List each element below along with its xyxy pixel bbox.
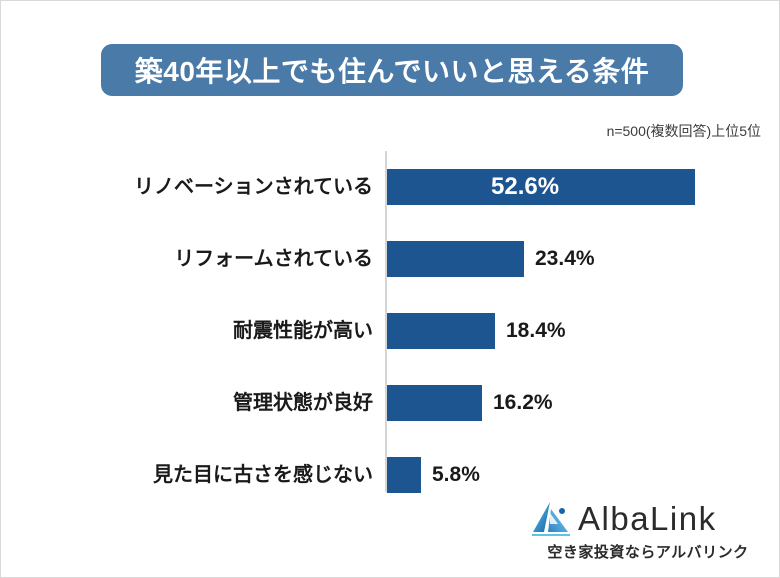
bar-row: 見た目に古さを感じない 5.8% (1, 457, 780, 493)
chart-canvas: 築40年以上でも住んでいいと思える条件 n=500(複数回答)上位5位 リノベー… (0, 0, 780, 578)
bar (387, 457, 421, 493)
chart-subtitle: n=500(複数回答)上位5位 (607, 121, 761, 141)
bar-value-label: 52.6% (491, 169, 559, 205)
category-label: 耐震性能が高い (61, 313, 373, 349)
bar-row: リノベーションされている 52.6% (1, 169, 780, 205)
bar-row: 耐震性能が高い 18.4% (1, 313, 780, 349)
category-label: 管理状態が良好 (61, 385, 373, 421)
bar (387, 313, 495, 349)
bar-value-label: 18.4% (506, 313, 566, 349)
bar (387, 241, 524, 277)
logo-tagline: 空き家投資ならアルバリンク (528, 541, 768, 562)
category-label: 見た目に古さを感じない (61, 457, 373, 493)
bar-row: リフォームされている 23.4% (1, 241, 780, 277)
logo-row: AlbaLink (528, 498, 768, 540)
category-label: リノベーションされている (61, 169, 373, 205)
chart-title-banner: 築40年以上でも住んでいいと思える条件 (101, 44, 683, 96)
plot-area: リノベーションされている 52.6% リフォームされている 23.4% 耐震性能… (1, 149, 780, 494)
bar-value-label: 5.8% (432, 457, 480, 493)
bar-row: 管理状態が良好 16.2% (1, 385, 780, 421)
chart-title: 築40年以上でも住んでいいと思える条件 (135, 50, 649, 90)
bar (387, 385, 482, 421)
albalink-logo: AlbaLink 空き家投資ならアルバリンク (528, 498, 768, 560)
bar-value-label: 23.4% (535, 241, 595, 277)
bar-value-label: 16.2% (493, 385, 553, 421)
albalink-mountain-icon (528, 500, 574, 538)
logo-wordmark: AlbaLink (578, 500, 717, 538)
category-label: リフォームされている (61, 241, 373, 277)
